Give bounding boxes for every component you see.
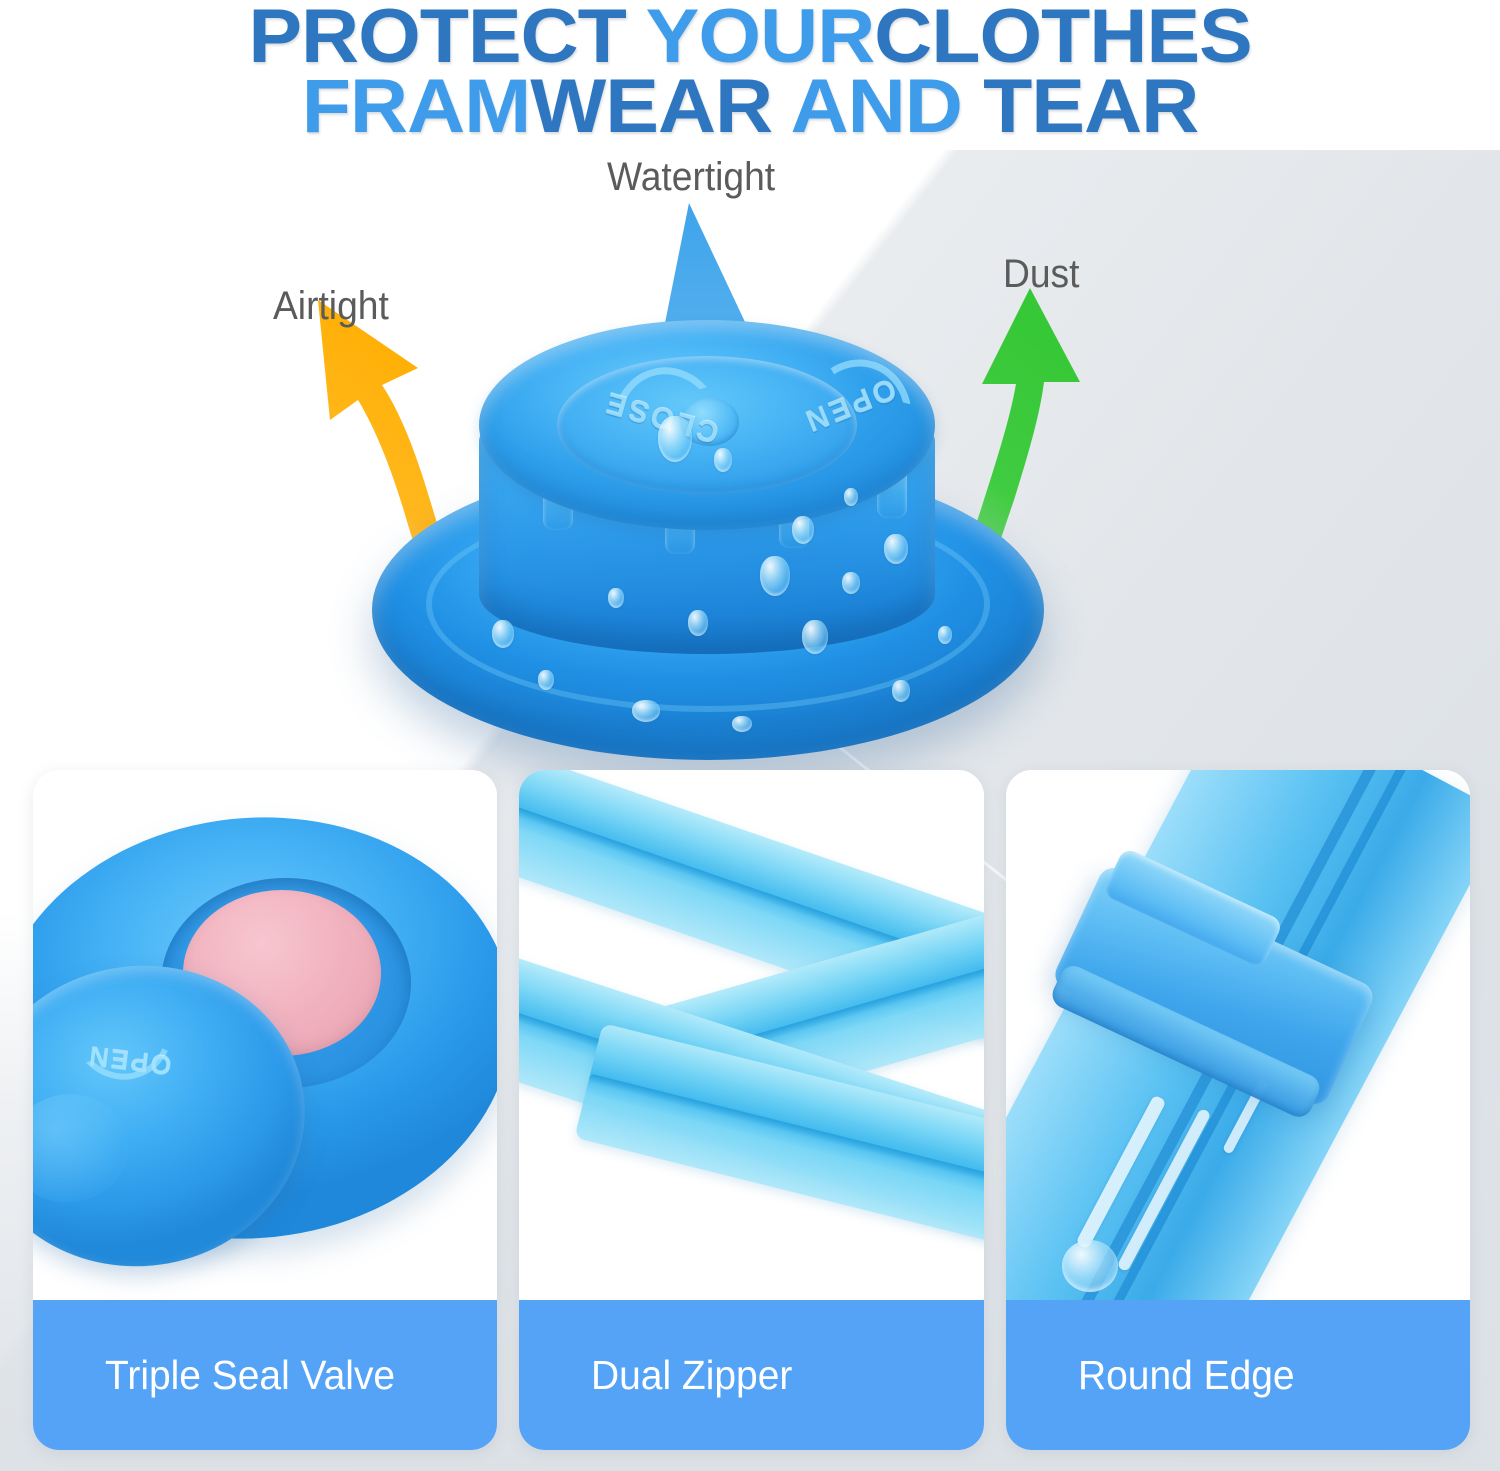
- card-photo-zipper-slider: [1006, 770, 1470, 1300]
- feature-cards: OPEN Triple Seal Valve Dual Zipper: [33, 770, 1470, 1450]
- headline-line-2: FRAMWEAR AND TEAR: [0, 72, 1500, 142]
- feature-card-dual-zipper[interactable]: Dual Zipper: [519, 770, 983, 1450]
- headline-word-fram: FRAM: [302, 64, 530, 149]
- feature-label-dust: Dust: [1003, 252, 1079, 297]
- card-caption-bar: Round Edge: [1006, 1300, 1470, 1450]
- card-caption-text: Round Edge: [1078, 1352, 1295, 1399]
- headline-line-1: PROTECT YOURCLOTHES: [0, 2, 1500, 72]
- feature-label-watertight: Watertight: [607, 155, 775, 200]
- product-infographic: PROTECT YOURCLOTHES FRAMWEAR AND TEAR Ai…: [0, 0, 1500, 1471]
- valve-lid-dimple: [33, 1086, 136, 1210]
- headline-word-tear: TEAR: [983, 64, 1198, 149]
- feature-card-round-edge[interactable]: Round Edge: [1006, 770, 1470, 1450]
- card-caption-text: Dual Zipper: [591, 1352, 792, 1399]
- water-droplet: [1062, 1240, 1118, 1292]
- headline-word-and: AND: [772, 64, 983, 149]
- card-caption-bar: Dual Zipper: [519, 1300, 983, 1450]
- card-photo-zipper-tracks: [519, 770, 983, 1300]
- feature-card-triple-seal-valve[interactable]: OPEN Triple Seal Valve: [33, 770, 497, 1450]
- headline: PROTECT YOURCLOTHES FRAMWEAR AND TEAR: [0, 2, 1500, 142]
- card-caption-bar: Triple Seal Valve: [33, 1300, 497, 1450]
- card-photo-valve-open: OPEN: [33, 770, 497, 1300]
- valve-top-face: CLOSE OPEN: [479, 320, 935, 530]
- hero-valve-cap-image: CLOSE OPEN: [372, 320, 1044, 760]
- headline-word-wear: WEAR: [530, 64, 772, 149]
- feature-label-airtight: Airtight: [273, 284, 389, 329]
- card-caption-text: Triple Seal Valve: [105, 1352, 395, 1399]
